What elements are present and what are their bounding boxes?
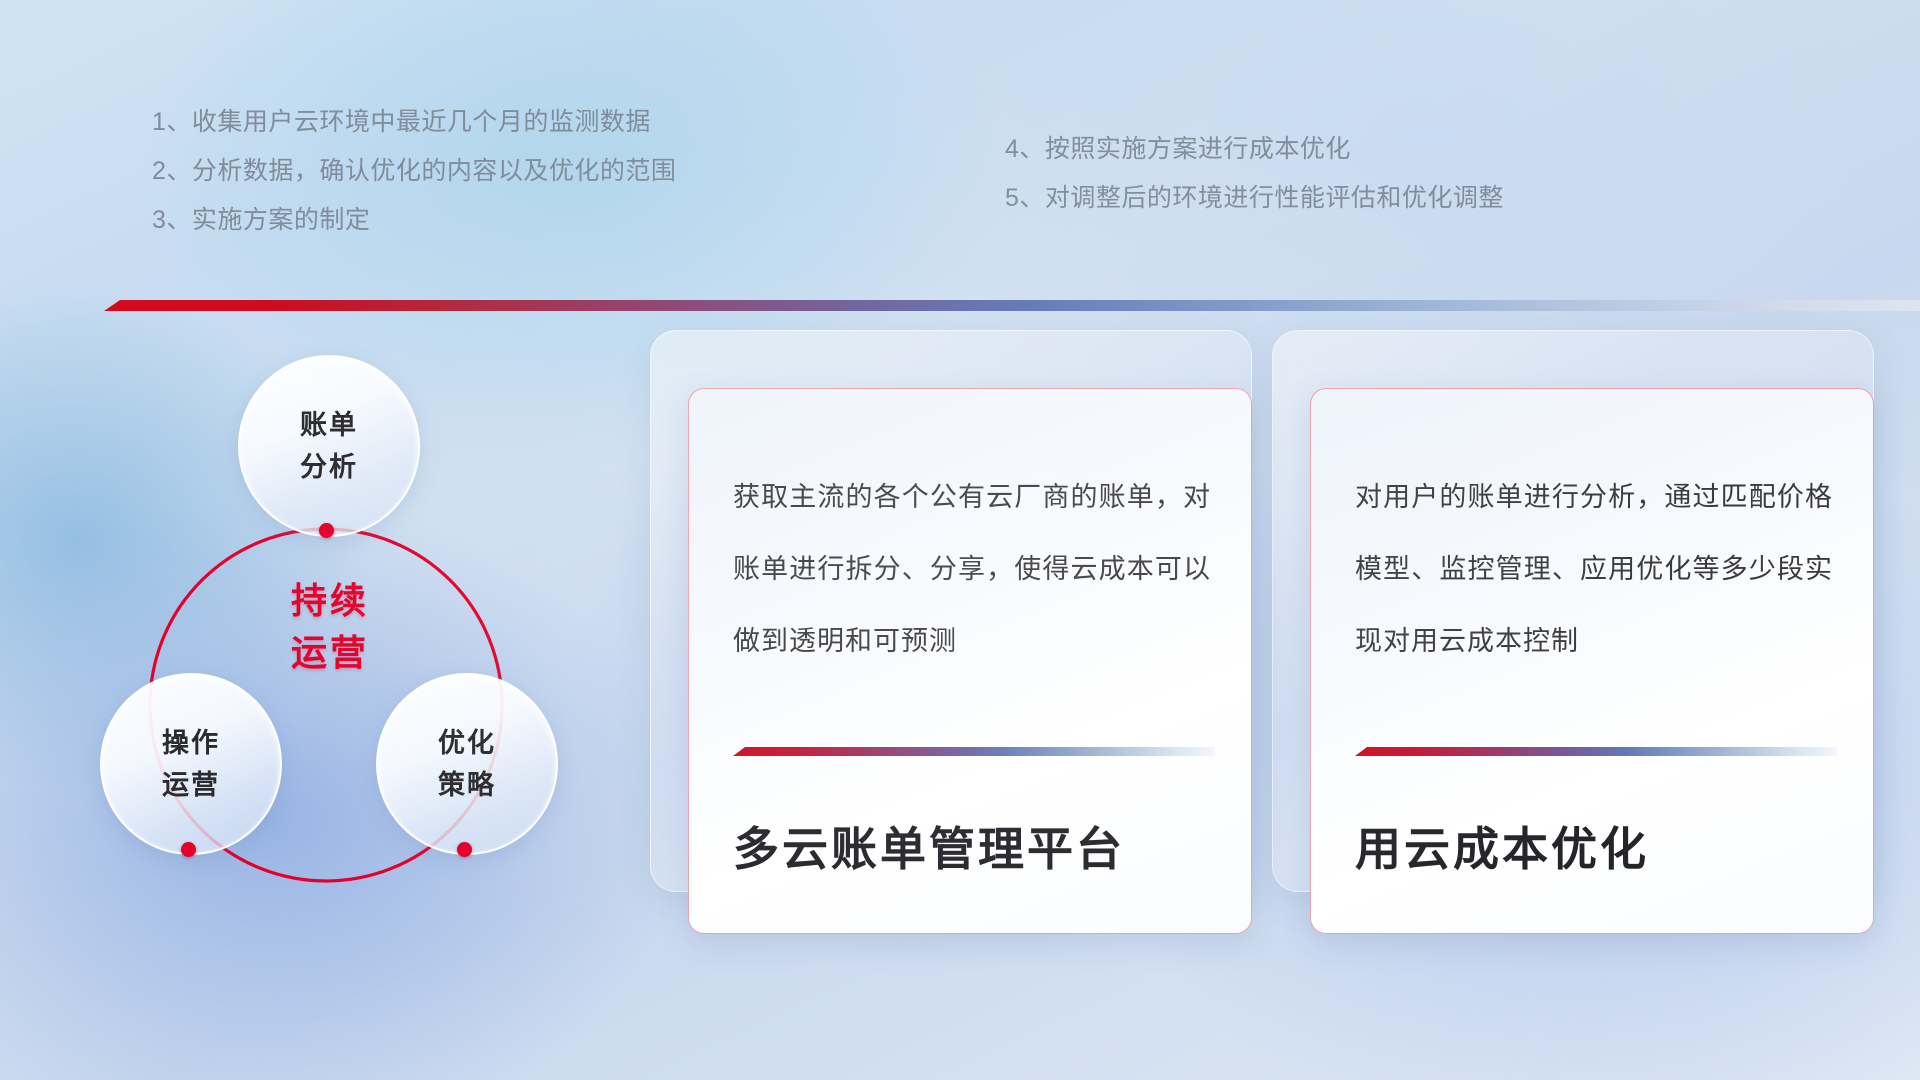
slide-canvas: 1、收集用户云环境中最近几个月的监测数据 2、分析数据，确认优化的内容以及优化的…	[0, 0, 1920, 1080]
venn-bubble-billing-analysis[interactable]: 账单 分析	[238, 355, 420, 537]
card-description: 获取主流的各个公有云厂商的账单，对账单进行拆分、分享，使得云成本可以做到透明和可…	[733, 461, 1211, 677]
venn-bubble-label: 分析	[300, 446, 358, 488]
section-divider	[104, 300, 1920, 311]
feature-card-multicloud-billing[interactable]: 获取主流的各个公有云厂商的账单，对账单进行拆分、分享，使得云成本可以做到透明和可…	[688, 388, 1252, 934]
card-title: 用云成本优化	[1355, 813, 1649, 879]
venn-center-line1: 持续	[260, 575, 400, 627]
feature-card-cost-optimization[interactable]: 对用户的账单进行分析，通过匹配价格模型、监控管理、应用优化等多少段实现对用云成本…	[1310, 388, 1874, 934]
venn-center-label: 持续 运营	[260, 575, 400, 679]
card-accent-rule	[1355, 747, 1837, 756]
card-accent-rule	[733, 747, 1215, 756]
venn-bubble-label: 操作	[162, 722, 220, 764]
venn-bubble-operations[interactable]: 操作 运营	[100, 673, 282, 855]
bullet-item: 1、收集用户云环境中最近几个月的监测数据	[152, 98, 676, 147]
venn-bubble-optimization-strategy[interactable]: 优化 策略	[376, 673, 558, 855]
venn-bubble-label: 账单	[300, 404, 358, 446]
venn-bubble-label: 策略	[438, 764, 496, 806]
venn-bubble-label: 运营	[162, 764, 220, 806]
card-description: 对用户的账单进行分析，通过匹配价格模型、监控管理、应用优化等多少段实现对用云成本…	[1355, 461, 1833, 677]
venn-center-line2: 运营	[260, 627, 400, 679]
venn-node-dot-top	[319, 523, 334, 538]
bullet-item: 5、对调整后的环境进行性能评估和优化调整	[1005, 174, 1504, 223]
venn-bubble-label: 优化	[438, 722, 496, 764]
venn-diagram: 账单 分析 操作 运营 优化 策略 持续 运营	[100, 355, 620, 925]
venn-node-dot-left	[181, 842, 196, 857]
venn-node-dot-right	[457, 842, 472, 857]
card-title: 多云账单管理平台	[733, 813, 1125, 879]
bullet-item: 4、按照实施方案进行成本优化	[1005, 125, 1504, 174]
bullet-list-left: 1、收集用户云环境中最近几个月的监测数据 2、分析数据，确认优化的内容以及优化的…	[152, 98, 676, 245]
bullet-list-right: 4、按照实施方案进行成本优化 5、对调整后的环境进行性能评估和优化调整	[1005, 125, 1504, 223]
bullet-item: 3、实施方案的制定	[152, 196, 676, 245]
bullet-item: 2、分析数据，确认优化的内容以及优化的范围	[152, 147, 676, 196]
